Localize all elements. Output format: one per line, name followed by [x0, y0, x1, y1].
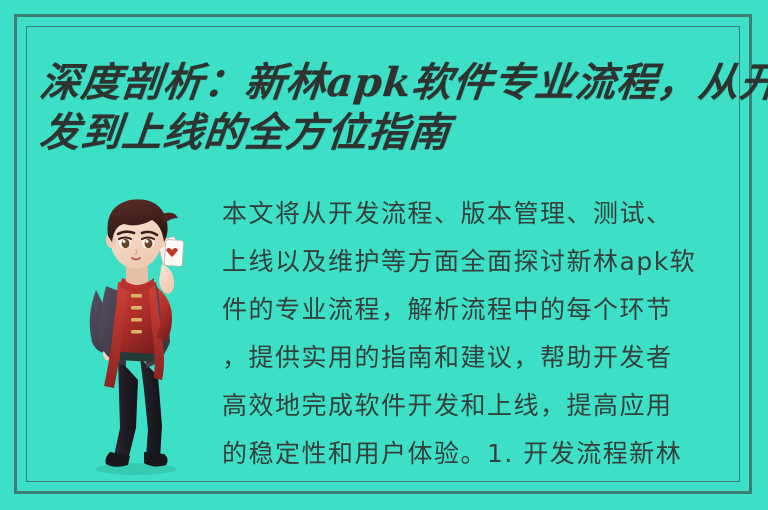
title-line-2: 发到上线的全方位指南 [37, 108, 752, 158]
body-line-6: 的稳定性和用户体验。1. 开发流程新林 [222, 430, 742, 478]
body-line-5: 高效地完成软件开发和上线，提高应用 [222, 382, 742, 430]
character-right-shoe [144, 452, 168, 467]
body-line-4: ，提供实用的指南和建议，帮助开发者 [222, 334, 742, 382]
character-left-leg [114, 358, 138, 460]
character-right-hand [159, 264, 174, 294]
character-hair-strand [162, 213, 178, 224]
article-summary: 本文将从开发流程、版本管理、测试、 上线以及维护等方面全面探讨新林apk软 件的… [222, 190, 742, 478]
body-line-2: 上线以及维护等方面全面探讨新林apk软 [222, 238, 742, 286]
body-line-3: 件的专业流程，解析流程中的每个环节 [222, 286, 742, 334]
page-title: 深度剖析：新林apk软件专业流程，从开 发到上线的全方位指南 [40, 58, 750, 158]
title-line-1: 深度剖析：新林apk软件专业流程，从开 [37, 58, 752, 108]
character-illustration [62, 190, 210, 478]
article-banner: 深度剖析：新林apk软件专业流程，从开 发到上线的全方位指南 本文将从开发流程、… [0, 0, 768, 510]
body-line-1: 本文将从开发流程、版本管理、测试、 [222, 190, 742, 238]
